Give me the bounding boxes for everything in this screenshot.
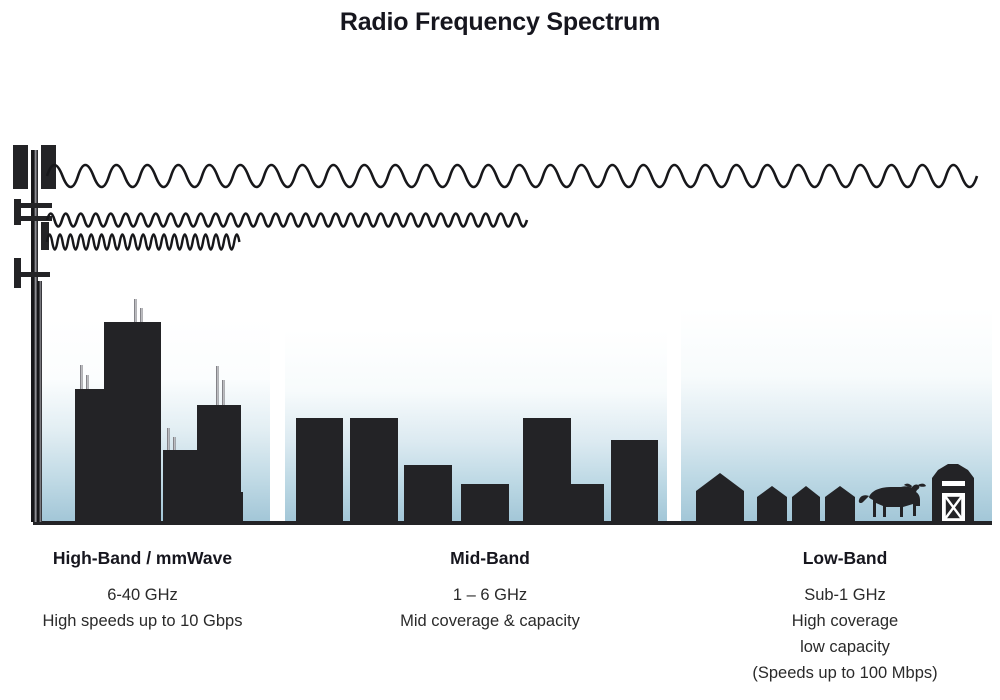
building-spire — [173, 437, 176, 451]
city-building — [611, 440, 658, 522]
band-name-low-band: Low-Band — [700, 548, 990, 569]
city-building — [163, 450, 197, 522]
barn-icon — [932, 464, 974, 522]
building-spire — [216, 366, 219, 406]
band-details-high-band: 6-40 GHz High speeds up to 10 Gbps — [0, 582, 285, 634]
band-details-mid-band: 1 – 6 GHz Mid coverage & capacity — [345, 582, 635, 634]
band-speed-mid-band: Mid coverage & capacity — [345, 608, 635, 634]
antenna-panel — [14, 199, 21, 225]
antenna-panel — [14, 258, 21, 288]
band-caption-low-band: Low-Band Sub-1 GHz High coverage low cap… — [700, 548, 990, 686]
city-building — [571, 484, 604, 522]
city-building — [104, 322, 161, 522]
band-frequency-low-band: Sub-1 GHz — [700, 582, 990, 608]
band-speed-low-band: (Speeds up to 100 Mbps) — [700, 660, 990, 686]
city-building — [296, 418, 343, 522]
band-name-high-band: High-Band / mmWave — [0, 548, 285, 569]
band-frequency-high-band: 6-40 GHz — [0, 582, 285, 608]
city-building — [350, 418, 398, 522]
building-spire — [86, 375, 89, 391]
antenna-panel — [41, 145, 56, 189]
band-frequency-mid-band: 1 – 6 GHz — [345, 582, 635, 608]
city-building — [197, 405, 241, 522]
city-building — [75, 389, 104, 522]
mid-band-wave — [47, 214, 527, 227]
ground-line — [33, 521, 992, 525]
city-building — [241, 492, 243, 522]
building-spire — [167, 428, 170, 450]
building-spire — [134, 299, 137, 325]
band-capacity-low-band: low capacity — [700, 634, 990, 660]
band-coverage-low-band: High coverage — [700, 608, 990, 634]
antenna-crossbar — [20, 272, 50, 277]
radio-waves — [47, 165, 977, 250]
band-details-low-band: Sub-1 GHz High coverage low capacity (Sp… — [700, 582, 990, 686]
city-building — [523, 418, 571, 522]
city-building — [461, 484, 509, 522]
band-speed-high-band: High speeds up to 10 Gbps — [0, 608, 285, 634]
band-caption-mid-band: Mid-Band 1 – 6 GHz Mid coverage & capaci… — [345, 548, 635, 634]
building-spire — [80, 365, 83, 391]
building-spire — [222, 380, 225, 406]
tower-mast-lower — [37, 281, 42, 522]
antenna-crossbar — [20, 203, 52, 208]
city-building — [404, 465, 452, 522]
band-caption-high-band: High-Band / mmWave 6-40 GHz High speeds … — [0, 548, 285, 634]
low-band-wave — [47, 165, 977, 187]
high-band-wave — [47, 235, 239, 250]
antenna-panel — [13, 145, 28, 189]
band-name-mid-band: Mid-Band — [345, 548, 635, 569]
